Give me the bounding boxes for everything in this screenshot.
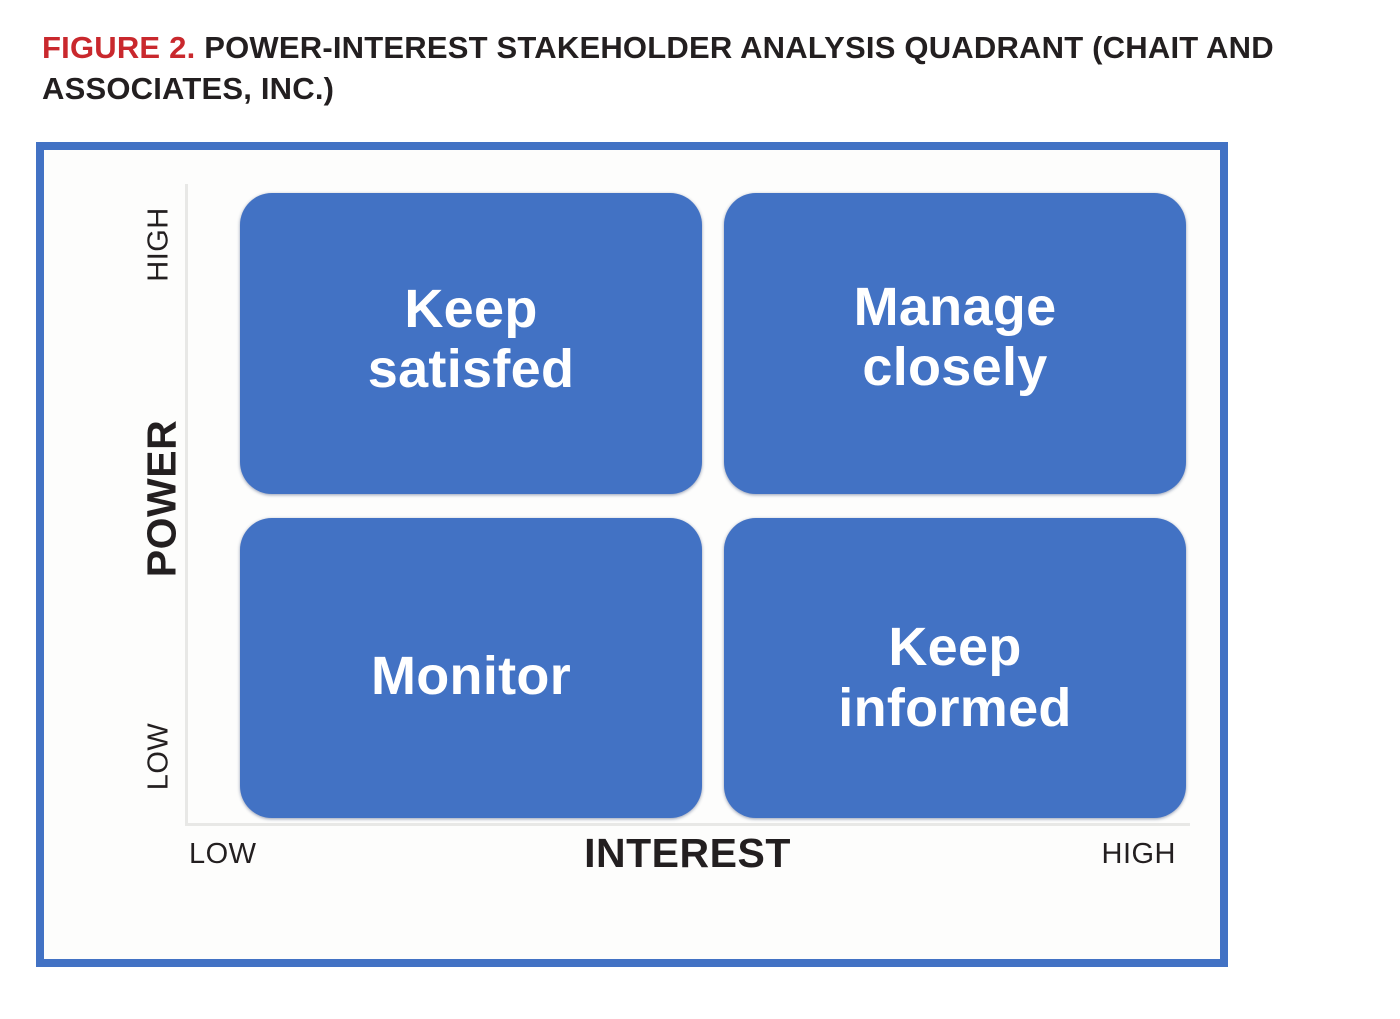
x-axis-title: INTEREST <box>185 830 1190 877</box>
quadrant-keep-satisfied-label: Keep satisfed <box>354 279 588 400</box>
figure-title: FIGURE 2. POWER-INTEREST STAKEHOLDER ANA… <box>42 27 1292 109</box>
figure-caption: POWER-INTEREST STAKEHOLDER ANALYSIS QUAD… <box>42 30 1274 106</box>
quadrant-plot-area: HIGH POWER LOW LOW INTEREST HIGH Keep sa… <box>44 150 1220 959</box>
quadrant-keep-informed[interactable]: Keep informed <box>724 518 1186 819</box>
figure-number: FIGURE 2. <box>42 30 195 65</box>
quadrant-keep-satisfied[interactable]: Keep satisfed <box>240 193 702 494</box>
quadrant-monitor[interactable]: Monitor <box>240 518 702 819</box>
quadrant-manage-closely[interactable]: Manage closely <box>724 193 1186 494</box>
quadrant-grid: Keep satisfed Manage closely Monitor Kee… <box>240 193 1186 818</box>
y-axis-title: POWER <box>139 409 186 589</box>
x-axis-high-label: HIGH <box>1102 838 1177 871</box>
figure-caption-text: POWER-INTEREST STAKEHOLDER ANALYSIS QUAD… <box>42 30 1274 106</box>
figure-frame: HIGH POWER LOW LOW INTEREST HIGH Keep sa… <box>36 142 1228 967</box>
quadrant-keep-informed-label: Keep informed <box>824 617 1085 738</box>
x-axis-line <box>185 823 1190 826</box>
quadrant-manage-closely-label: Manage closely <box>840 277 1071 398</box>
quadrant-monitor-label: Monitor <box>357 646 585 706</box>
y-axis-high-label: HIGH <box>143 185 176 305</box>
y-axis-low-label: LOW <box>143 697 176 817</box>
